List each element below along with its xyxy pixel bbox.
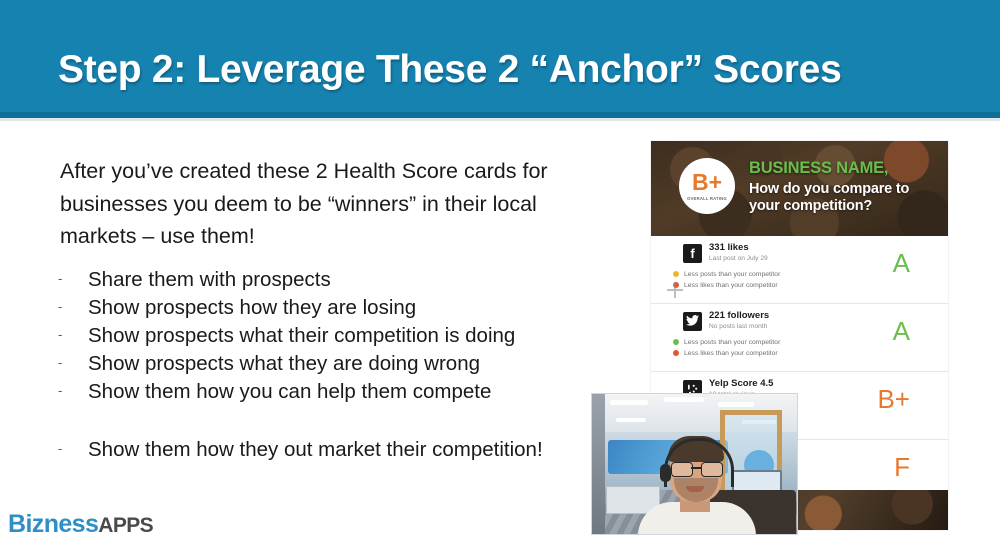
webcam-glasses-bridge [691,467,701,469]
row-grade: B+ [877,386,910,412]
status-dot-warning-icon [673,271,679,277]
bullet-marker-icon: - [58,384,88,397]
list-item: - Show prospects how they are losing [58,296,618,324]
webcam-ceiling-light [610,400,648,405]
webcam-glasses-lens-right [701,462,723,477]
webcam-glasses-lens-left [671,462,693,477]
list-item-label: Show them how they out market their comp… [88,438,543,462]
business-name-label: BUSINESS NAME, [749,159,909,179]
webcam-ceiling-light [664,397,704,402]
row-title: 221 followers [709,311,769,322]
row-grade: F [894,454,910,480]
list-item-label: Show them how you can help them compete [88,380,491,404]
list-item: - Show prospects what they are doing wro… [58,352,618,380]
webcam-ceiling-light [616,418,646,422]
badge-caption-label: OVERALL RATING [687,196,727,201]
webcam-ceiling-light [718,402,754,407]
webcam-pillar [592,394,605,534]
list-item: - Share them with prospects [58,268,618,296]
move-cursor-icon [667,282,683,298]
row-meta: 331 likes Last post on July 29 [709,243,768,263]
twitter-icon [683,312,702,331]
bizness-apps-logo: BiznessAPPS [8,512,153,537]
note-label: Less posts than your competitor [684,271,780,278]
status-dot-good-icon [673,339,679,345]
badge-grade-label: B+ [692,171,722,194]
row-meta: 221 followers No posts last month [709,311,769,331]
bullet-marker-icon: - [58,328,88,341]
webcam-glasses-icon [671,462,721,475]
note-label: Less likes than your competitor [684,350,778,357]
note-label: Less likes than your competitor [684,282,778,289]
score-row-twitter: 221 followers No posts last month Less p… [651,304,948,372]
logo-primary-text: Bizness [8,510,98,538]
webcam-headset-earcup [660,464,671,482]
row-title: 331 likes [709,243,768,254]
intro-paragraph: After you’ve created these 2 Health Scor… [60,155,600,253]
list-item: - Show them how you can help them compet… [58,380,618,408]
page-title: Step 2: Leverage These 2 “Anchor” Scores [58,50,958,91]
row-title: Yelp Score 4.5 [709,379,773,390]
score-row-facebook: f 331 likes Last post on July 29 Less po… [651,236,948,304]
note-label: Less posts than your competitor [684,339,780,346]
card-hero-text: BUSINESS NAME, How do you compare to you… [749,159,909,216]
bullet-marker-icon: - [58,272,88,285]
row-grade: A [893,318,910,344]
bullet-list: - Share them with prospects - Show prosp… [58,268,618,466]
overall-rating-badge: B+ OVERALL RATING [679,158,735,214]
card-hero-banner: B+ OVERALL RATING BUSINESS NAME, How do … [651,141,948,236]
bullet-marker-icon: - [58,300,88,313]
list-item-label: Share them with prospects [88,268,331,292]
presenter-webcam [591,393,798,535]
hero-question-line-2: your competition? [749,198,909,215]
row-subtitle: No posts last month [709,323,769,331]
note-item: Less likes than your competitor [673,348,948,359]
row-grade: A [893,250,910,276]
list-item-label: Show prospects how they are losing [88,296,416,320]
list-item: - Show prospects what their competition … [58,324,618,352]
status-dot-bad-icon [673,350,679,356]
header-band-hairline [0,118,1000,121]
note-item: Less likes than your competitor [673,280,948,291]
facebook-icon: f [683,244,702,263]
list-item-label: Show prospects what their competition is… [88,324,515,348]
row-subtitle: Last post on July 29 [709,255,768,263]
list-item-final: - Show them how they out market their co… [58,438,618,466]
list-item-label: Show prospects what they are doing wrong [88,352,480,376]
bullet-marker-icon: - [58,442,88,455]
hero-question: How do you compare to your competition? [749,181,909,216]
hero-question-line-1: How do you compare to [749,181,909,198]
slide: Step 2: Leverage These 2 “Anchor” Scores… [0,0,1000,551]
bullet-marker-icon: - [58,356,88,369]
logo-secondary-text: APPS [98,514,153,537]
